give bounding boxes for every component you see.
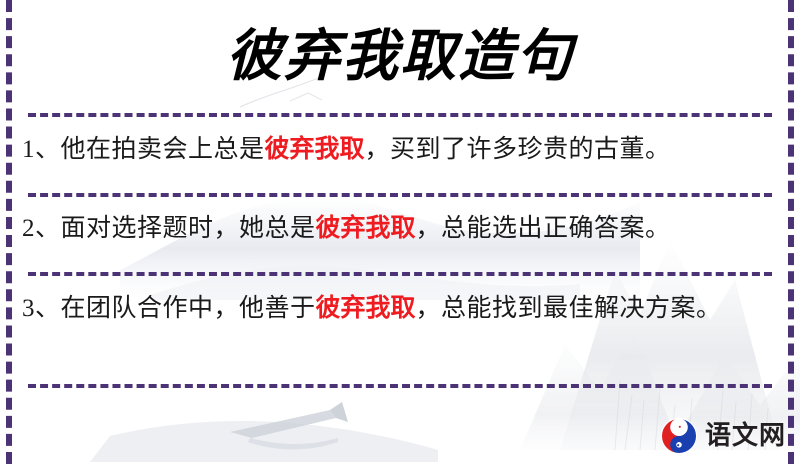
divider-above-sentence-2 (28, 193, 772, 197)
worksheet-page: 彼弃我取造句 1、他在拍卖会上总是彼弃我取，买到了许多珍贵的古董。 2、面对选择… (0, 0, 800, 464)
site-logo-text: 语文网 (705, 423, 786, 449)
sentence-text-before: 在团队合作中，他善于 (61, 295, 316, 322)
sentence-text-after: ，总能找到最佳解决方案。 (416, 295, 722, 322)
sentence-row: 3、在团队合作中，他善于彼弃我取，总能找到最佳解决方案。 (22, 287, 772, 330)
taiji-fish-icon (659, 416, 699, 456)
watermark-boat-icon (80, 392, 440, 462)
sentence-text-after: ，买到了许多珍贵的古董。 (365, 136, 671, 163)
keyword-idiom: 彼弃我取 (316, 215, 416, 242)
divider-above-sentence-1 (28, 113, 772, 117)
page-title: 彼弃我取造句 (0, 22, 800, 90)
frame-right-dashed-border (788, 0, 794, 464)
sentence-row: 1、他在拍卖会上总是彼弃我取，买到了许多珍贵的古董。 (22, 128, 772, 171)
frame-left-dashed-border (6, 0, 12, 464)
sentence-index: 1、 (22, 136, 61, 163)
sentence-row: 2、面对选择题时，她总是彼弃我取，总能选出正确答案。 (22, 207, 772, 250)
sentence-index: 2、 (22, 215, 61, 242)
site-logo[interactable]: 语文网 (659, 416, 786, 456)
keyword-idiom: 彼弃我取 (265, 136, 365, 163)
sentence-text-after: ，总能选出正确答案。 (416, 215, 671, 242)
sentence-text-before: 他在拍卖会上总是 (61, 136, 265, 163)
divider-below-sentence-3 (28, 384, 772, 388)
sentence-index: 3、 (22, 295, 61, 322)
divider-above-sentence-3 (28, 272, 772, 276)
keyword-idiom: 彼弃我取 (316, 295, 416, 322)
sentence-text-before: 面对选择题时，她总是 (61, 215, 316, 242)
